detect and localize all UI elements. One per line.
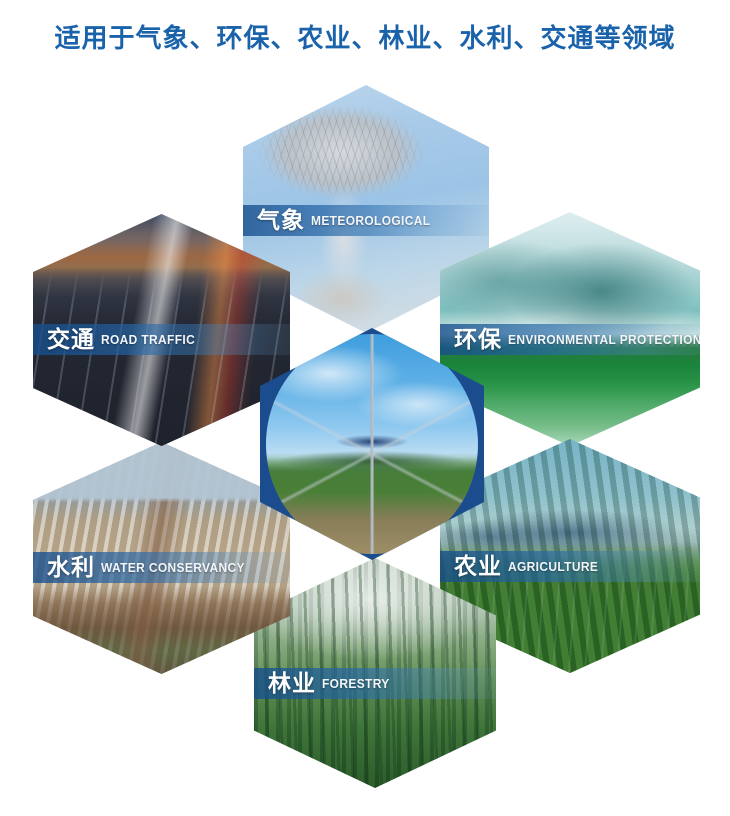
hex-label-environmental-protection: 环保 ENVIRONMENTAL PROTECTION	[440, 324, 700, 355]
hex-label-cn-forestry: 林业	[268, 672, 316, 695]
hex-label-meteorological: 气象 METEOROLOGICAL	[243, 205, 489, 236]
hex-label-road-traffic: 交通 ROAD TRAFFIC	[33, 324, 290, 355]
hex-label-en-road-traffic: ROAD TRAFFIC	[101, 333, 195, 346]
hex-label-cn-road-traffic: 交通	[47, 328, 95, 351]
hexagon-honeycomb: 气象 METEOROLOGICAL 环保 ENVIRONMENTAL PROTE…	[0, 80, 730, 816]
center-photo-circle	[266, 334, 478, 554]
hex-label-en-agriculture: AGRICULTURE	[508, 560, 598, 573]
hex-label-en-meteorological: METEOROLOGICAL	[311, 214, 430, 227]
hex-label-cn-agriculture: 农业	[454, 555, 502, 578]
page-title: 适用于气象、环保、农业、林业、水利、交通等领域	[0, 18, 730, 55]
hex-label-en-environmental-protection: ENVIRONMENTAL PROTECTION	[508, 333, 700, 346]
center-weather-station-photo	[266, 334, 478, 554]
hex-label-water-conservancy: 水利 WATER CONSERVANCY	[33, 552, 290, 583]
hex-label-en-water-conservancy: WATER CONSERVANCY	[101, 561, 245, 574]
hex-label-cn-meteorological: 气象	[257, 209, 305, 232]
hex-label-agriculture: 农业 AGRICULTURE	[440, 551, 700, 582]
hex-tile-water-conservancy[interactable]: 水利 WATER CONSERVANCY	[33, 442, 290, 674]
hex-label-cn-environmental-protection: 环保	[454, 328, 502, 351]
hex-label-cn-water-conservancy: 水利	[47, 556, 95, 579]
hex-label-forestry: 林业 FORESTRY	[254, 668, 496, 699]
hex-label-en-forestry: FORESTRY	[322, 677, 390, 690]
